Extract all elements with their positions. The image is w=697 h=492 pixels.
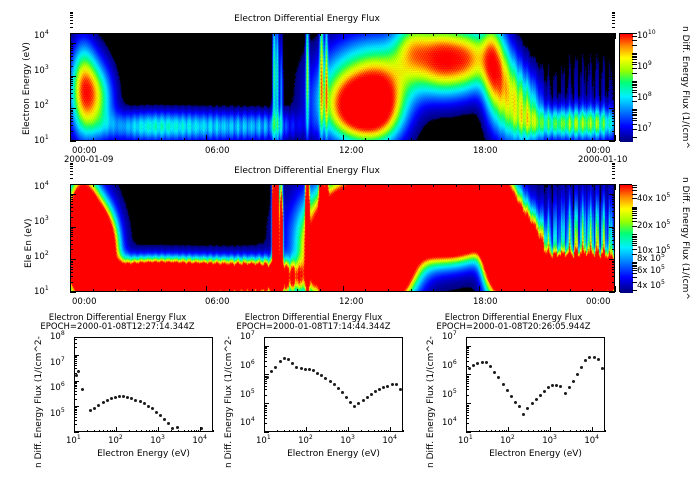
data-point [77,370,80,373]
axis-tick [388,184,389,187]
colorbar-tick [632,213,637,214]
colorbar-tick [632,215,637,216]
axis-tick [70,118,73,119]
axis-tick [343,286,344,292]
axis-tick [570,33,571,36]
colorbar-tick [632,120,637,121]
axis-tick [70,79,73,80]
axis-tick [264,346,269,347]
bottom-1-ytick: 107 [50,358,65,368]
top-cbar-tick-10e9: 109 [637,62,652,72]
axis-tick [115,138,116,141]
axis-tick [479,135,480,141]
axis-tick [115,184,116,187]
axis-tick [264,352,267,353]
axis-tick [384,430,385,433]
axis-tick [612,166,615,167]
axis-tick [94,430,95,433]
axis-tick [161,33,162,36]
axis-tick [403,430,404,433]
axis-tick [70,204,73,205]
axis-tick [612,282,615,283]
mid-cbar-tick-20: 20x 105 [637,221,670,231]
colorbar-tick [632,81,637,82]
bottom-1-ytick: 105 [50,409,65,419]
axis-tick [74,368,77,369]
axis-tick [320,33,321,36]
axis-tick [74,337,77,338]
axis-tick [70,249,73,250]
colorbar-tick [632,263,637,264]
data-point [489,365,492,368]
bottom-3-ytick: 105 [442,390,457,400]
axis-tick [264,406,267,407]
axis-tick [320,184,321,187]
colorbar-tick [632,33,637,34]
bottom-1-xtick: 102 [108,436,123,446]
axis-tick [74,363,77,364]
axis-tick [141,430,142,433]
axis-tick [115,33,116,36]
axis-tick [70,244,73,245]
colorbar-tick [632,273,637,274]
axis-tick [264,348,267,349]
axis-tick [70,48,73,49]
axis-tick [191,430,192,433]
axis-tick [107,430,108,433]
top-xdate-right: 2000-01-10 [578,155,627,165]
axis-tick [70,228,73,229]
axis-tick [592,184,593,187]
axis-tick [612,48,615,49]
axis-tick [264,381,267,382]
colorbar-tick [632,82,637,83]
axis-tick [580,430,581,433]
axis-tick [544,430,545,433]
mid-xtick-0000b: 00:00 [586,297,611,307]
mid-ytick-3: 103 [34,217,49,227]
data-point [337,387,340,390]
axis-tick [466,427,467,432]
axis-tick [411,184,412,187]
axis-tick [501,138,502,141]
axis-tick [612,46,615,47]
spectrum-plot-3[interactable] [466,337,605,432]
axis-tick [136,430,137,433]
data-point [114,396,117,399]
axis-tick [612,27,615,28]
axis-tick [184,33,185,36]
axis-tick [479,430,480,433]
colorbar-tick [632,262,637,263]
colorbar-tick [632,64,637,65]
axis-tick [570,289,571,292]
axis-tick [411,138,412,141]
data-point [295,366,298,369]
data-point [514,401,517,404]
axis-tick [612,249,615,250]
axis-tick [479,33,480,39]
axis-tick [70,272,73,273]
data-point [366,396,369,399]
top-spectrogram-frame [70,33,615,141]
colorbar-tick [632,270,637,271]
axis-tick [70,83,73,84]
axis-tick [206,184,207,190]
bottom-1-ytick: 106 [50,383,65,393]
data-point [601,367,604,370]
axis-tick [70,276,73,277]
data-point [506,389,509,392]
axis-tick [612,85,615,86]
top-ytick-3: 103 [34,66,49,76]
colorbar-tick [632,87,637,88]
mid-panel-ylabel: Ele En (eV) [24,218,34,268]
colorbar-tick [632,56,637,57]
axis-tick [264,357,267,358]
axis-tick [411,289,412,292]
axis-tick [306,427,307,432]
axis-tick [74,381,79,382]
axis-tick [466,379,469,380]
axis-tick [70,110,73,111]
colorbar-tick [632,265,637,266]
axis-tick [188,430,189,433]
axis-tick [99,430,100,433]
bottom-2-ytick: 107 [240,332,255,342]
data-point [481,361,484,364]
axis-tick [70,163,73,164]
axis-tick [93,33,94,36]
axis-tick [456,138,457,141]
axis-tick [70,23,73,24]
axis-tick [74,409,77,410]
axis-tick [612,15,615,16]
axis-tick [612,110,615,111]
axis-tick [70,264,73,265]
colorbar-tick [632,254,637,255]
data-point [572,380,575,383]
axis-tick [374,430,375,433]
axis-tick [388,430,389,433]
colorbar-tick [632,109,637,110]
axis-tick [524,289,525,292]
figure-canvas: Electron Differential Energy Flux Electr… [0,0,697,492]
axis-tick [289,430,290,433]
axis-tick [116,427,117,432]
axis-tick [612,234,615,235]
axis-tick [612,66,615,67]
colorbar-tick [632,137,637,138]
axis-tick [499,430,500,433]
top-cbar-tick-10e7: 107 [637,124,652,134]
axis-tick [70,178,73,179]
data-point [399,388,402,391]
axis-tick [612,125,615,126]
data-point [283,357,286,360]
axis-tick [74,385,77,386]
axis-tick [605,430,606,433]
colorbar-tick [632,92,637,93]
axis-tick [612,77,615,78]
axis-tick [466,415,469,416]
bottom-2-xlabel: Electron Energy (eV) [239,449,428,459]
axis-tick [533,430,534,433]
data-point [279,360,282,363]
axis-tick [74,347,77,348]
axis-tick [547,138,548,141]
axis-tick [612,217,615,218]
bottom-3-xtick: 102 [500,436,515,446]
axis-tick [612,195,615,196]
axis-tick [161,138,162,141]
axis-tick [70,15,73,16]
axis-tick [612,228,615,229]
axis-tick [70,232,73,233]
colorbar-tick [632,218,637,219]
colorbar-tick [632,290,637,291]
axis-tick [70,164,73,165]
colorbar-tick [632,124,637,125]
axis-tick [70,292,76,293]
data-point [564,392,567,395]
axis-tick [433,33,434,36]
axis-tick [70,234,73,235]
axis-tick [390,427,391,432]
axis-tick [612,178,615,179]
data-point [274,366,277,369]
axis-tick [112,430,113,433]
axis-tick [411,33,412,36]
axis-tick [466,406,469,407]
axis-tick [264,350,267,351]
axis-tick [524,138,525,141]
axis-tick [612,93,615,94]
axis-tick [612,199,615,200]
colorbar-tick [632,73,637,74]
axis-tick [609,43,615,44]
axis-tick [154,430,155,433]
colorbar-tick [632,112,637,113]
axis-tick [196,430,197,433]
mid-colorbar[interactable] [619,184,632,292]
axis-tick [194,430,195,433]
axis-tick [264,412,267,413]
axis-tick [592,289,593,292]
axis-tick [70,50,73,51]
bottom-1-ylabel: n Diff. Energy Flux (1/(cm^2- [34,336,44,468]
colorbar-tick [632,57,637,58]
mid-spectrogram-frame [70,184,615,292]
axis-tick [70,43,76,44]
axis-tick [93,184,94,187]
top-ytick-4: 104 [34,31,49,41]
axis-tick [433,138,434,141]
axis-tick [70,211,73,212]
data-point [378,388,381,391]
axis-tick [541,430,542,433]
colorbar-tick [632,45,637,46]
axis-tick [612,201,615,202]
axis-tick [229,184,230,187]
colorbar-tick [632,207,637,208]
axis-tick [293,430,294,433]
axis-tick [74,361,77,362]
top-colorbar[interactable] [619,33,632,141]
axis-tick [297,430,298,433]
colorbar-tick [632,96,637,97]
axis-tick [264,379,267,380]
axis-tick [74,356,77,357]
axis-tick [576,430,577,433]
axis-tick [74,386,77,387]
axis-tick [115,289,116,292]
axis-tick [161,289,162,292]
data-point [502,383,505,386]
axis-tick [264,408,267,409]
axis-tick [110,430,111,433]
colorbar-tick [632,36,637,37]
axis-tick [74,343,77,344]
axis-tick [466,352,469,353]
axis-tick [74,365,77,366]
axis-tick [466,386,469,387]
colorbar-tick [632,187,637,188]
axis-tick [609,227,615,228]
bottom-2-xtick: 104 [382,436,397,446]
colorbar-tick [632,114,637,115]
axis-tick [302,430,303,433]
bottom-2-ytick: 106 [240,361,255,371]
axis-tick [388,289,389,292]
axis-tick [74,355,79,356]
bottom-2-xtick: 102 [298,436,313,446]
axis-tick [612,50,615,51]
axis-tick [171,430,172,433]
axis-tick [70,195,73,196]
axis-tick [70,227,76,228]
axis-tick [138,33,139,36]
data-point [106,399,109,402]
colorbar-tick [632,282,637,283]
axis-tick [184,289,185,292]
bottom-1-xtick: 101 [66,436,81,446]
axis-tick [178,430,179,433]
colorbar-tick [632,268,637,269]
axis-tick [70,13,73,14]
colorbar-tick [632,190,637,191]
axis-tick [138,289,139,292]
axis-tick [612,232,615,233]
axis-tick [274,184,275,187]
axis-tick [501,184,502,187]
top-ytick-2: 102 [34,101,49,111]
axis-tick [550,427,551,432]
axis-tick [524,33,525,36]
axis-tick [612,168,615,169]
bottom-2-ytick: 104 [240,418,255,428]
axis-tick [70,85,73,86]
axis-tick [156,430,157,433]
axis-tick [158,427,159,432]
mid-xtick-0000a: 00:00 [72,297,97,307]
data-point [370,393,373,396]
axis-tick [456,184,457,187]
mid-panel-title: Electron Differential Energy Flux [0,166,614,176]
axis-tick [466,347,469,348]
mid-cbar-tick-6: 6x 105 [637,266,665,276]
axis-tick [70,197,73,198]
axis-tick [612,174,615,175]
axis-tick [466,432,471,433]
bottom-3-xtick: 101 [458,436,473,446]
axis-tick [491,430,492,433]
colorbar-tick [632,209,637,210]
bottom-panel-3-epoch: EPOCH=2000-01-08T20:26:05.944Z [396,322,631,332]
data-point [374,390,377,393]
axis-tick [433,289,434,292]
data-point [580,366,583,369]
bottom-3-ytick: 106 [442,361,457,371]
axis-tick [300,430,301,433]
axis-tick [264,410,267,411]
axis-tick [612,98,615,99]
axis-tick [546,430,547,433]
axis-tick [466,357,469,358]
colorbar-tick [632,68,637,69]
data-point [341,391,344,394]
data-point [349,401,352,404]
axis-tick [612,163,615,164]
axis-tick [70,12,73,13]
axis-tick [74,406,79,407]
colorbar-tick [632,129,637,130]
axis-tick [588,430,589,433]
axis-tick [570,430,571,433]
spectrum-plot-1[interactable] [74,337,213,432]
data-point [510,395,513,398]
axis-tick [70,53,73,54]
axis-tick [70,66,73,67]
axis-tick [456,289,457,292]
axis-tick [138,138,139,141]
axis-tick [70,262,73,263]
data-point [329,380,332,383]
mid-ytick-2: 102 [34,252,49,262]
axis-tick [70,217,73,218]
axis-tick [70,267,73,268]
axis-tick [70,199,73,200]
axis-tick [70,184,71,190]
axis-tick [612,17,615,18]
colorbar-tick [632,226,637,227]
axis-tick [466,361,469,362]
axis-tick [615,286,616,292]
axis-tick [264,383,267,384]
colorbar-tick [632,101,637,102]
axis-tick [466,403,471,404]
axis-tick [70,240,73,241]
axis-tick [343,135,344,141]
axis-tick [343,184,344,190]
axis-tick [70,93,73,94]
data-point [539,394,542,397]
axis-tick [386,430,387,433]
axis-tick [74,357,77,358]
axis-tick [70,116,73,117]
axis-tick [264,389,267,390]
axis-tick [570,184,571,187]
